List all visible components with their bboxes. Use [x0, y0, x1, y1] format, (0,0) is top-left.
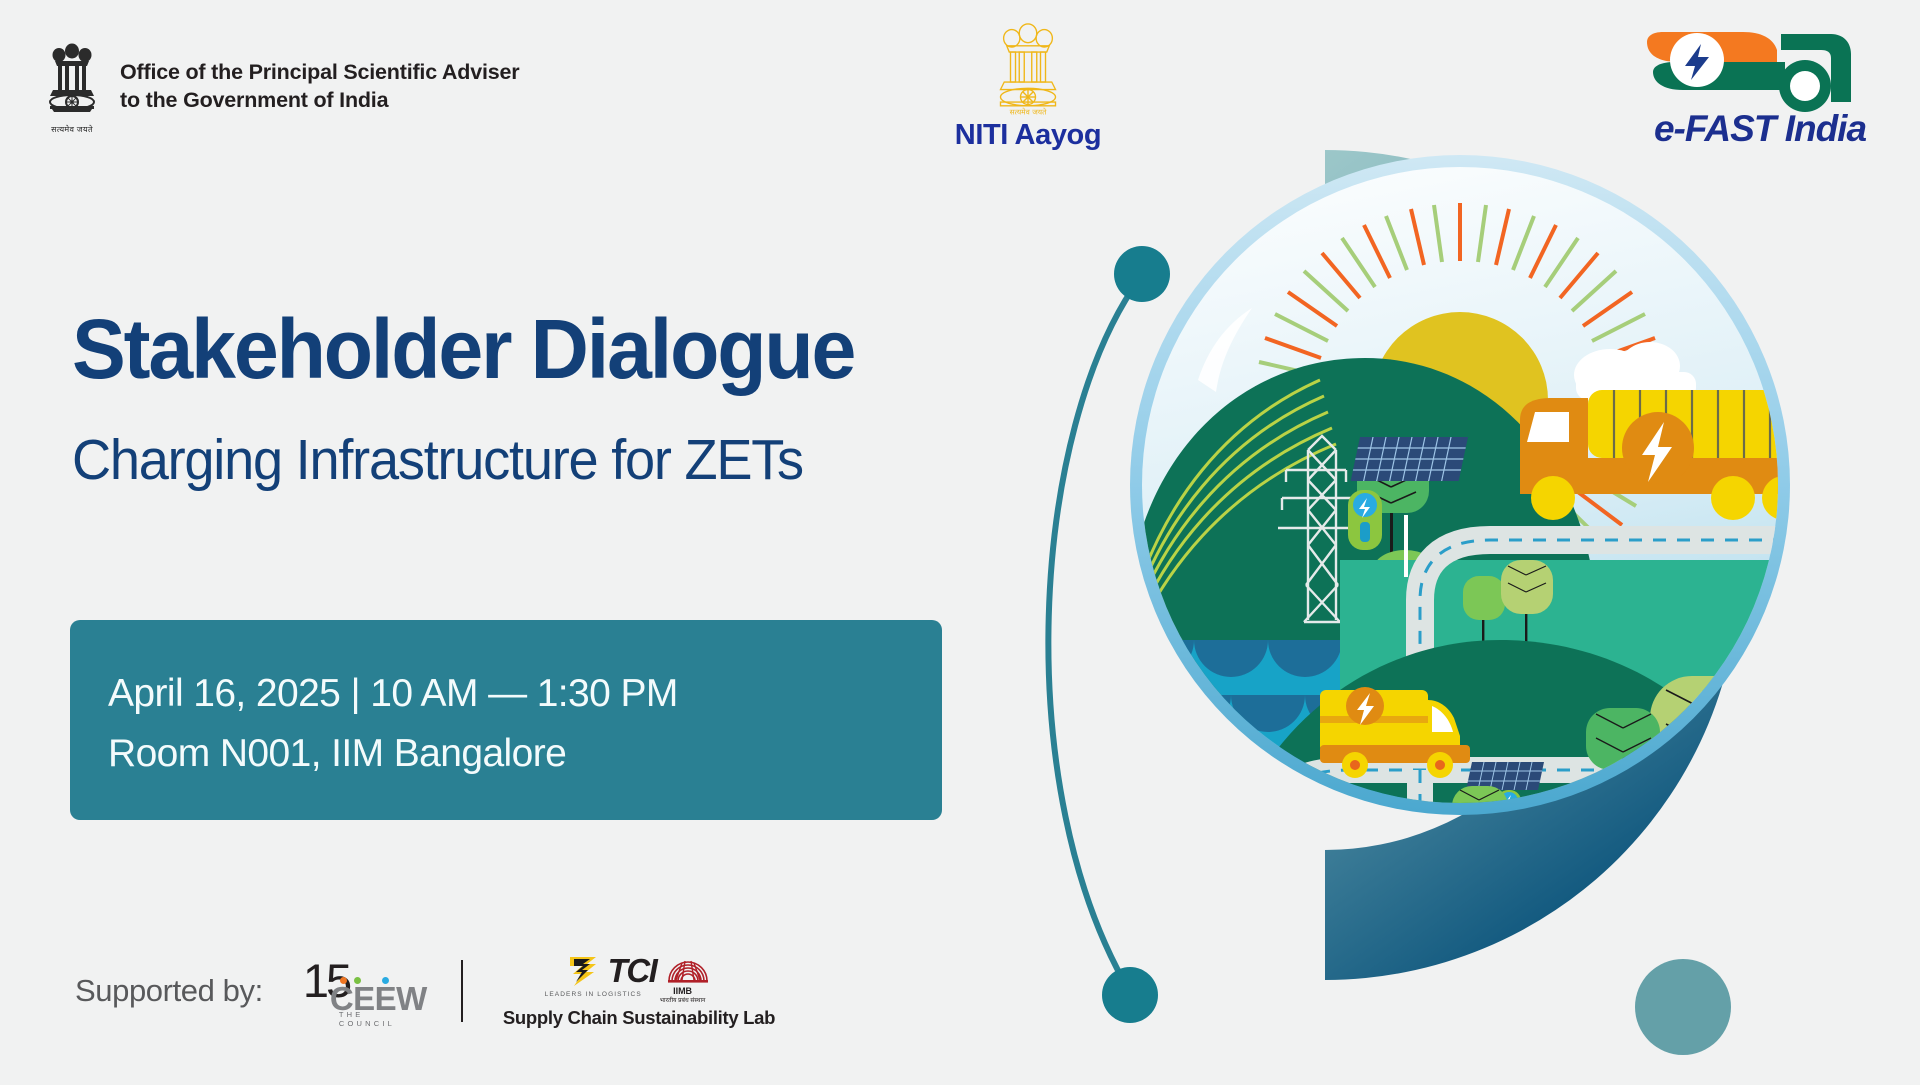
- emblem-caption: सत्यमेव जयते: [42, 124, 102, 135]
- india-state-emblem: सत्यमेव जयते: [42, 42, 102, 135]
- page-title: Stakeholder Dialogue: [72, 307, 854, 391]
- tci-tagline: LEADERS IN LOGISTICS: [545, 991, 642, 998]
- iimb-devanagari: भारतीय प्रबंध संस्थान: [660, 996, 706, 1004]
- psa-line-1: Office of the Principal Scientific Advis…: [120, 58, 519, 86]
- event-venue: Room N001, IIM Bangalore: [108, 724, 942, 784]
- connector-dot-bottom: [1102, 967, 1158, 1023]
- accent-circle: [1635, 959, 1731, 1055]
- page-subtitle: Charging Infrastructure for ZETs: [72, 432, 803, 489]
- event-datetime: April 16, 2025 | 10 AM — 1:30 PM: [108, 664, 942, 724]
- ceew-logo: 15 CEEW THE COUNCIL: [303, 953, 421, 1029]
- tci-swirl-icon: [568, 954, 598, 988]
- zero-emission-landscape-illustration: [1020, 0, 1920, 1080]
- connector-curve: [1048, 278, 1140, 992]
- event-details-box: April 16, 2025 | 10 AM — 1:30 PM Room N0…: [70, 620, 942, 820]
- iimb-label: IIMB: [660, 986, 706, 996]
- artwork-panel: [1020, 0, 1920, 1080]
- supported-by-row: Supported by: 15 CEEW THE COUNCIL TCI: [75, 952, 775, 1029]
- ev-charger-upper: [1348, 490, 1382, 550]
- tci-wordmark: TCI: [608, 952, 657, 990]
- psa-title: Office of the Principal Scientific Advis…: [120, 42, 519, 115]
- connector-dot-top: [1114, 246, 1170, 302]
- state-emblem-icon: [43, 42, 101, 118]
- scs-lab-name: Supply Chain Sustainability Lab: [503, 1007, 775, 1029]
- bush: [1646, 868, 1714, 912]
- psa-logo: सत्यमेव जयते Office of the Principal Sci…: [42, 42, 519, 135]
- tci-iimb-logo: TCI LEADERS IN LOGISTICS I: [503, 952, 775, 1029]
- supported-by-label: Supported by:: [75, 973, 263, 1009]
- psa-line-2: to the Government of India: [120, 86, 519, 114]
- iimb-logo-icon: [666, 953, 710, 989]
- ceew-tagline: THE COUNCIL: [339, 1010, 421, 1028]
- logo-divider: [461, 960, 463, 1022]
